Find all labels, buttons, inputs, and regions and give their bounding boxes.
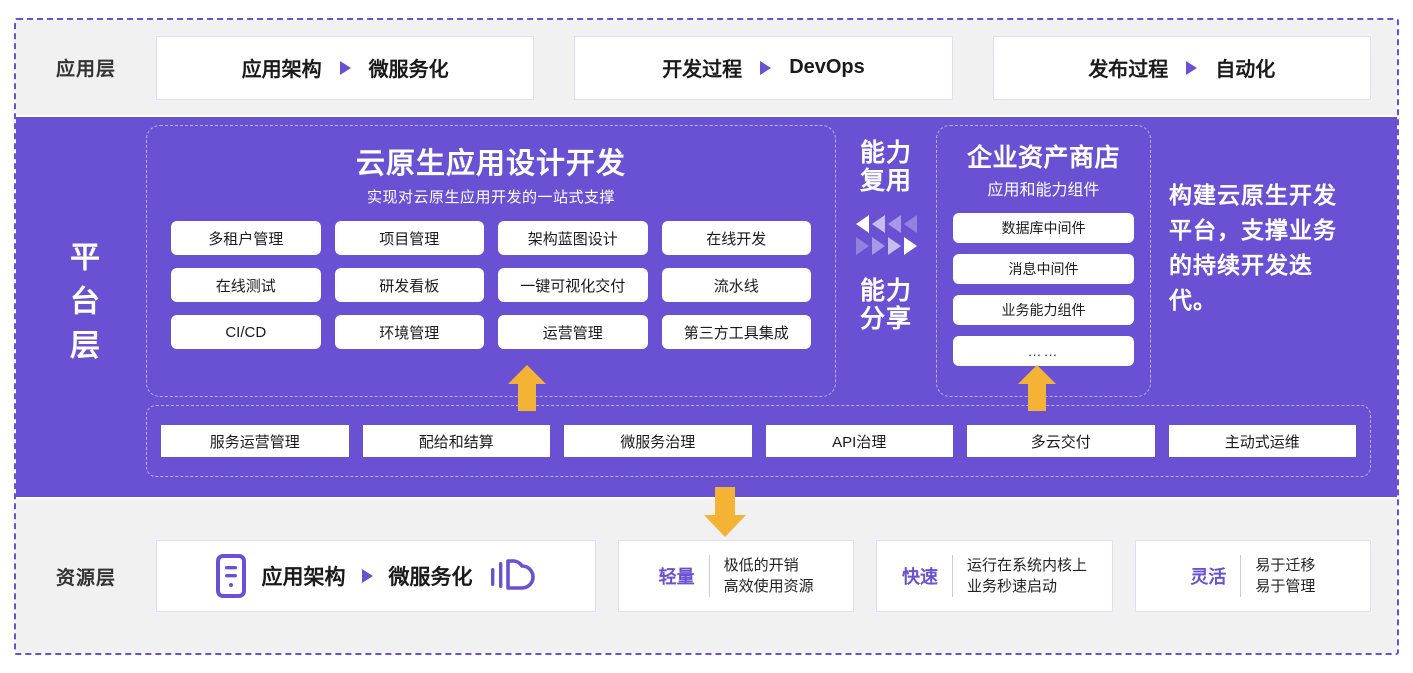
governance-chip[interactable]: 主动式运维: [1169, 425, 1357, 457]
feature-description: 易于迁移 易于管理: [1255, 555, 1315, 598]
resource-main-left-label: 应用架构: [262, 561, 346, 591]
feature-card-lightweight[interactable]: 轻量 极低的开销 高效使用资源: [618, 540, 854, 612]
feature-desc-line1: 极低的开销: [724, 557, 799, 574]
feature-key: 轻量: [659, 563, 695, 589]
feature-desc-line2: 业务秒速启动: [967, 578, 1057, 595]
dev-chip[interactable]: 多租户管理: [171, 221, 321, 255]
asset-panel-subtitle: 应用和能力组件: [953, 176, 1134, 200]
enterprise-asset-store-panel: 企业资产商店 应用和能力组件 数据库中间件 消息中间件 业务能力组件 ……: [936, 125, 1151, 397]
platform-layer-label: 平台层: [16, 117, 146, 497]
capability-reuse-label: 能力 复用: [860, 139, 912, 195]
asset-chip[interactable]: 数据库中间件: [953, 213, 1134, 243]
dev-chip[interactable]: 一键可视化交付: [498, 268, 648, 302]
dev-chip[interactable]: 环境管理: [335, 315, 485, 349]
arrow-up-icon-left: [508, 365, 546, 411]
dev-chip[interactable]: 项目管理: [335, 221, 485, 255]
triangle-right-icon: [362, 569, 373, 583]
dev-chip[interactable]: 架构蓝图设计: [498, 221, 648, 255]
triangle-right-icon: [340, 61, 351, 75]
governance-chip[interactable]: 多云交付: [967, 425, 1155, 457]
platform-slogan: 构建云原生开发平台，支撑业务的持续开发迭代。: [1151, 125, 1371, 397]
application-layer-band: 应用层 应用架构 微服务化 开发过程 DevOps 发布过程 自动化: [16, 20, 1397, 115]
asset-panel-title: 企业资产商店: [953, 138, 1134, 174]
dev-panel-subtitle: 实现对云原生应用开发的一站式支撑: [171, 186, 811, 207]
feature-card-flexible[interactable]: 灵活 易于迁移 易于管理: [1135, 540, 1371, 612]
server-icon: [216, 554, 246, 598]
dev-chip[interactable]: 流水线: [662, 268, 812, 302]
platform-layer-body: 云原生应用设计开发 实现对云原生应用开发的一站式支撑 多租户管理 项目管理 架构…: [146, 117, 1397, 497]
dev-chip[interactable]: 在线测试: [171, 268, 321, 302]
arrow-right-icon: [904, 237, 917, 255]
app-box-left-label: 发布过程: [1088, 53, 1168, 82]
app-box-right-label: DevOps: [789, 56, 865, 79]
dev-panel-grid: 多租户管理 项目管理 架构蓝图设计 在线开发 在线测试 研发看板 一键可视化交付…: [171, 221, 811, 349]
resource-layer-label: 资源层: [16, 563, 156, 590]
arrow-right-icon: [872, 237, 885, 255]
feature-description: 极低的开销 高效使用资源: [724, 555, 814, 598]
arrow-left-icon: [904, 215, 917, 233]
governance-chip[interactable]: 微服务治理: [564, 425, 752, 457]
platform-layer-band: 平台层 云原生应用设计开发 实现对云原生应用开发的一站式支撑 多租户管理 项目管…: [16, 117, 1397, 497]
dev-chip[interactable]: 在线开发: [662, 221, 812, 255]
governance-strip: 服务运营管理 配给和结算 微服务治理 API治理 多云交付 主动式运维: [146, 405, 1371, 477]
app-box-architecture[interactable]: 应用架构 微服务化: [156, 36, 534, 100]
app-box-left-label: 应用架构: [242, 53, 322, 82]
feature-divider: [1240, 555, 1241, 597]
dev-panel-title: 云原生应用设计开发: [171, 140, 811, 182]
arrow-right-icon: [888, 237, 901, 255]
capability-share-line1: 能力: [860, 277, 912, 305]
feature-desc-line2: 高效使用资源: [724, 578, 814, 595]
arrow-right-icon-group: [856, 235, 917, 257]
platform-layer-label-text: 平台层: [66, 241, 96, 373]
platform-top-row: 云原生应用设计开发 实现对云原生应用开发的一站式支撑 多租户管理 项目管理 架构…: [146, 125, 1371, 397]
capability-share-line2: 分享: [860, 305, 912, 333]
arrow-left-icon: [872, 215, 885, 233]
asset-chip[interactable]: 业务能力组件: [953, 295, 1134, 325]
capability-column: 能力 复用: [836, 125, 936, 397]
architecture-diagram: 应用层 应用架构 微服务化 开发过程 DevOps 发布过程 自动化 平台层: [0, 0, 1413, 673]
capability-reuse-line1: 能力: [860, 139, 912, 167]
arrow-left-icon-group: [856, 213, 917, 235]
feature-description: 运行在系统内核上 业务秒速启动: [967, 555, 1087, 598]
arrow-left-icon: [856, 215, 869, 233]
dev-chip[interactable]: CI/CD: [171, 315, 321, 349]
asset-chip[interactable]: 消息中间件: [953, 254, 1134, 284]
app-box-left-label: 开发过程: [662, 53, 742, 82]
app-box-development[interactable]: 开发过程 DevOps: [574, 36, 952, 100]
app-box-right-label: 自动化: [1215, 53, 1275, 82]
feature-divider: [952, 555, 953, 597]
arrow-right-icon: [856, 237, 869, 255]
feature-key: 灵活: [1190, 563, 1226, 589]
governance-chip[interactable]: 服务运营管理: [161, 425, 349, 457]
arrow-left-icon: [888, 215, 901, 233]
feature-desc-line1: 运行在系统内核上: [967, 557, 1087, 574]
arrow-down-icon: [704, 487, 746, 537]
arrow-up-icon-right: [1018, 365, 1056, 411]
resource-main-right-label: 微服务化: [389, 561, 473, 591]
governance-chip[interactable]: 配给和结算: [363, 425, 551, 457]
feature-card-fast[interactable]: 快速 运行在系统内核上 业务秒速启动: [876, 540, 1112, 612]
app-box-right-label: 微服务化: [369, 53, 449, 82]
application-layer-label: 应用层: [16, 54, 156, 81]
asset-panel-list: 数据库中间件 消息中间件 业务能力组件 ……: [953, 213, 1134, 366]
triangle-right-icon: [760, 61, 771, 75]
asset-chip-more[interactable]: ……: [953, 336, 1134, 366]
application-layer-box-list: 应用架构 微服务化 开发过程 DevOps 发布过程 自动化: [156, 36, 1397, 100]
cloud-native-dev-panel: 云原生应用设计开发 实现对云原生应用开发的一站式支撑 多租户管理 项目管理 架构…: [146, 125, 836, 397]
feature-desc-line1: 易于迁移: [1255, 557, 1315, 574]
dev-chip[interactable]: 第三方工具集成: [662, 315, 812, 349]
cloud-icon: [489, 556, 537, 596]
feature-key: 快速: [902, 563, 938, 589]
dev-chip[interactable]: 研发看板: [335, 268, 485, 302]
governance-chip[interactable]: API治理: [766, 425, 954, 457]
resource-main-box[interactable]: 应用架构 微服务化: [156, 540, 596, 612]
app-box-release[interactable]: 发布过程 自动化: [993, 36, 1371, 100]
platform-slogan-text: 构建云原生开发平台，支撑业务的持续开发迭代。: [1169, 178, 1359, 318]
triangle-right-icon: [1186, 61, 1197, 75]
resource-layer-box-list: 应用架构 微服务化 轻量 极低的开销 高效使用资源 快速: [156, 540, 1397, 612]
feature-desc-line2: 易于管理: [1255, 578, 1315, 595]
capability-share-label: 能力 分享: [860, 277, 912, 333]
feature-divider: [709, 555, 710, 597]
capability-reuse-line2: 复用: [860, 167, 912, 195]
dev-chip[interactable]: 运营管理: [498, 315, 648, 349]
